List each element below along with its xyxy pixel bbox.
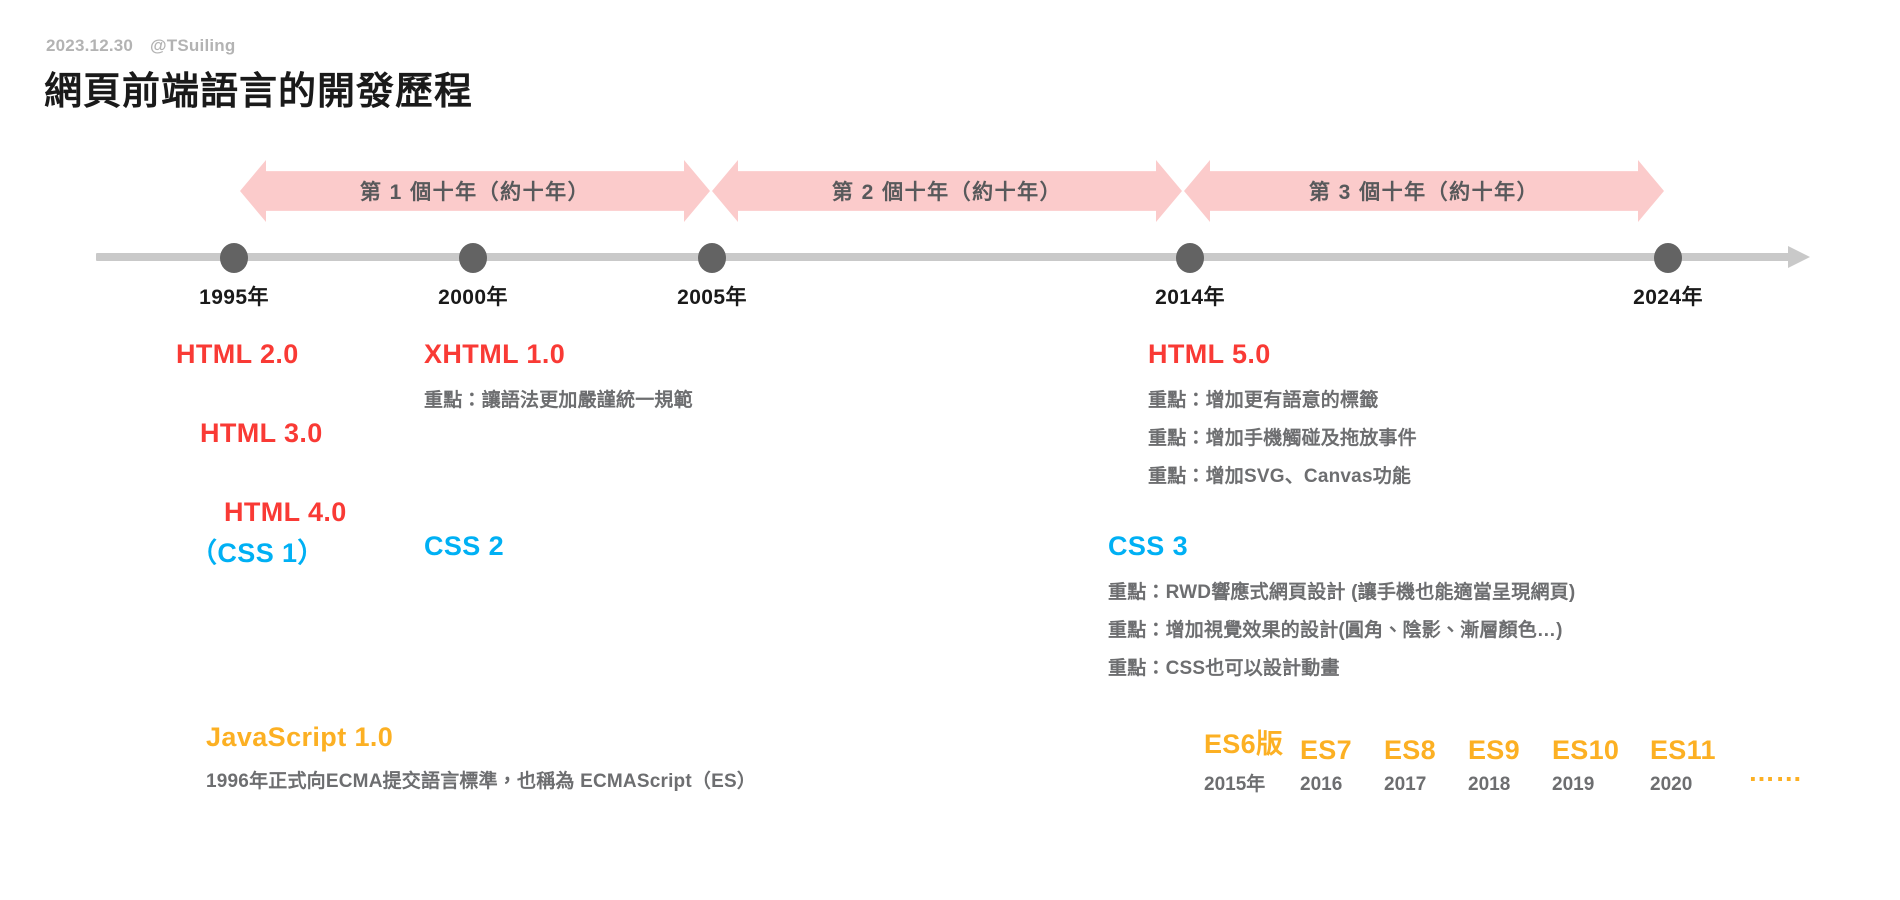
ecmascript-name: ES8 — [1384, 735, 1436, 766]
css2-block: CSS 2 — [424, 531, 504, 562]
ecmascript-versions-row: ES6版 2015年 ES7 2016 ES8 2017 ES9 2018 ES… — [1204, 722, 1838, 796]
ecmascript-item: ES9 2018 — [1468, 735, 1552, 796]
ecmascript-item: ES11 2020 — [1650, 735, 1748, 796]
ecmascript-year: 2019 — [1552, 774, 1594, 796]
javascript-note: 1996年正式向ECMA提交語言標準，也稱為 ECMAScript（ES） — [206, 763, 756, 801]
ecmascript-year: 2018 — [1468, 774, 1510, 796]
css3-block: CSS 3 重點：RWD響應式網頁設計 (讓手機也能適當呈現網頁) 重點：增加視… — [1108, 531, 1575, 688]
byline-date: 2023.12.30 — [46, 36, 133, 55]
decade-label: 第 2 個十年（約十年） — [832, 176, 1062, 206]
html5-title: HTML 5.0 — [1148, 339, 1417, 370]
decade-arrow-2: 第 2 個十年（約十年） — [712, 160, 1182, 222]
timeline-node-dot — [1176, 243, 1204, 273]
css1-block: （CSS 1） — [190, 531, 325, 570]
css3-note: 重點：RWD響應式網頁設計 (讓手機也能適當呈現網頁) — [1108, 574, 1575, 612]
ecmascript-year: 2016 — [1300, 774, 1342, 796]
xhtml-note: 重點：讓語法更加嚴謹統一規範 — [424, 382, 693, 420]
css3-note: 重點：增加視覺效果的設計(圓角、陰影、漸層顏色…) — [1108, 612, 1575, 650]
ecmascript-year: 2020 — [1650, 774, 1692, 796]
byline: 2023.12.30 @TSuiling — [46, 36, 235, 56]
ecmascript-item: ES6版 2015年 — [1204, 722, 1300, 796]
ecmascript-item: ES8 2017 — [1384, 735, 1468, 796]
css3-title: CSS 3 — [1108, 531, 1575, 562]
ecmascript-name: ES10 — [1552, 735, 1619, 766]
decade-label: 第 1 個十年（約十年） — [360, 176, 590, 206]
ecmascript-name: ES6版 — [1204, 722, 1283, 761]
timeline-axis — [96, 253, 1796, 261]
timeline-node-dot — [698, 243, 726, 273]
axis-arrowhead-icon — [1788, 246, 1810, 268]
timeline-year-label: 2014年 — [1155, 281, 1225, 311]
ecmascript-year: 2017 — [1384, 774, 1426, 796]
javascript-title: JavaScript 1.0 — [206, 722, 756, 753]
page-title: 網頁前端語言的開發歷程 — [44, 60, 473, 115]
ecmascript-name: …… — [1748, 757, 1803, 788]
css3-note: 重點：CSS也可以設計動畫 — [1108, 650, 1575, 688]
xhtml-block: XHTML 1.0 重點：讓語法更加嚴謹統一規範 — [424, 339, 693, 420]
timeline-node-dot — [1654, 243, 1682, 273]
decade-label: 第 3 個十年（約十年） — [1309, 176, 1539, 206]
html-version: HTML 2.0 — [176, 339, 347, 370]
ecmascript-item: …… — [1748, 757, 1838, 796]
ecmascript-year: 2015年 — [1204, 769, 1265, 796]
html5-note: 重點：增加SVG、Canvas功能 — [1148, 458, 1417, 496]
css2-title: CSS 2 — [424, 531, 504, 562]
html5-note: 重點：增加手機觸碰及拖放事件 — [1148, 420, 1417, 458]
xhtml-title: XHTML 1.0 — [424, 339, 693, 370]
html-early-block: HTML 2.0 HTML 3.0 HTML 4.0 — [176, 339, 347, 528]
ecmascript-name: ES11 — [1650, 735, 1716, 766]
html-version: HTML 3.0 — [200, 418, 347, 449]
ecmascript-name: ES9 — [1468, 735, 1520, 766]
decade-arrow-band: 第 1 個十年（約十年） 第 2 個十年（約十年） 第 3 個十年（約十年） — [0, 160, 1900, 222]
timeline-node-dot — [459, 243, 487, 273]
css1-title: （CSS 1） — [190, 531, 325, 570]
ecmascript-item: ES7 2016 — [1300, 735, 1384, 796]
timeline-year-label: 2024年 — [1633, 281, 1703, 311]
ecmascript-item: ES10 2019 — [1552, 735, 1650, 796]
timeline-year-label: 1995年 — [199, 281, 269, 311]
timeline-year-label: 2000年 — [438, 281, 508, 311]
javascript-block: JavaScript 1.0 1996年正式向ECMA提交語言標準，也稱為 EC… — [206, 722, 756, 801]
byline-handle: @TSuiling — [150, 36, 235, 55]
timeline-node-dot — [220, 243, 248, 273]
html5-block: HTML 5.0 重點：增加更有語意的標籤 重點：增加手機觸碰及拖放事件 重點：… — [1148, 339, 1417, 496]
ecmascript-name: ES7 — [1300, 735, 1352, 766]
timeline-year-label: 2005年 — [677, 281, 747, 311]
html5-note: 重點：增加更有語意的標籤 — [1148, 382, 1417, 420]
html-version: HTML 4.0 — [224, 497, 347, 528]
decade-arrow-3: 第 3 個十年（約十年） — [1184, 160, 1664, 222]
decade-arrow-1: 第 1 個十年（約十年） — [240, 160, 710, 222]
